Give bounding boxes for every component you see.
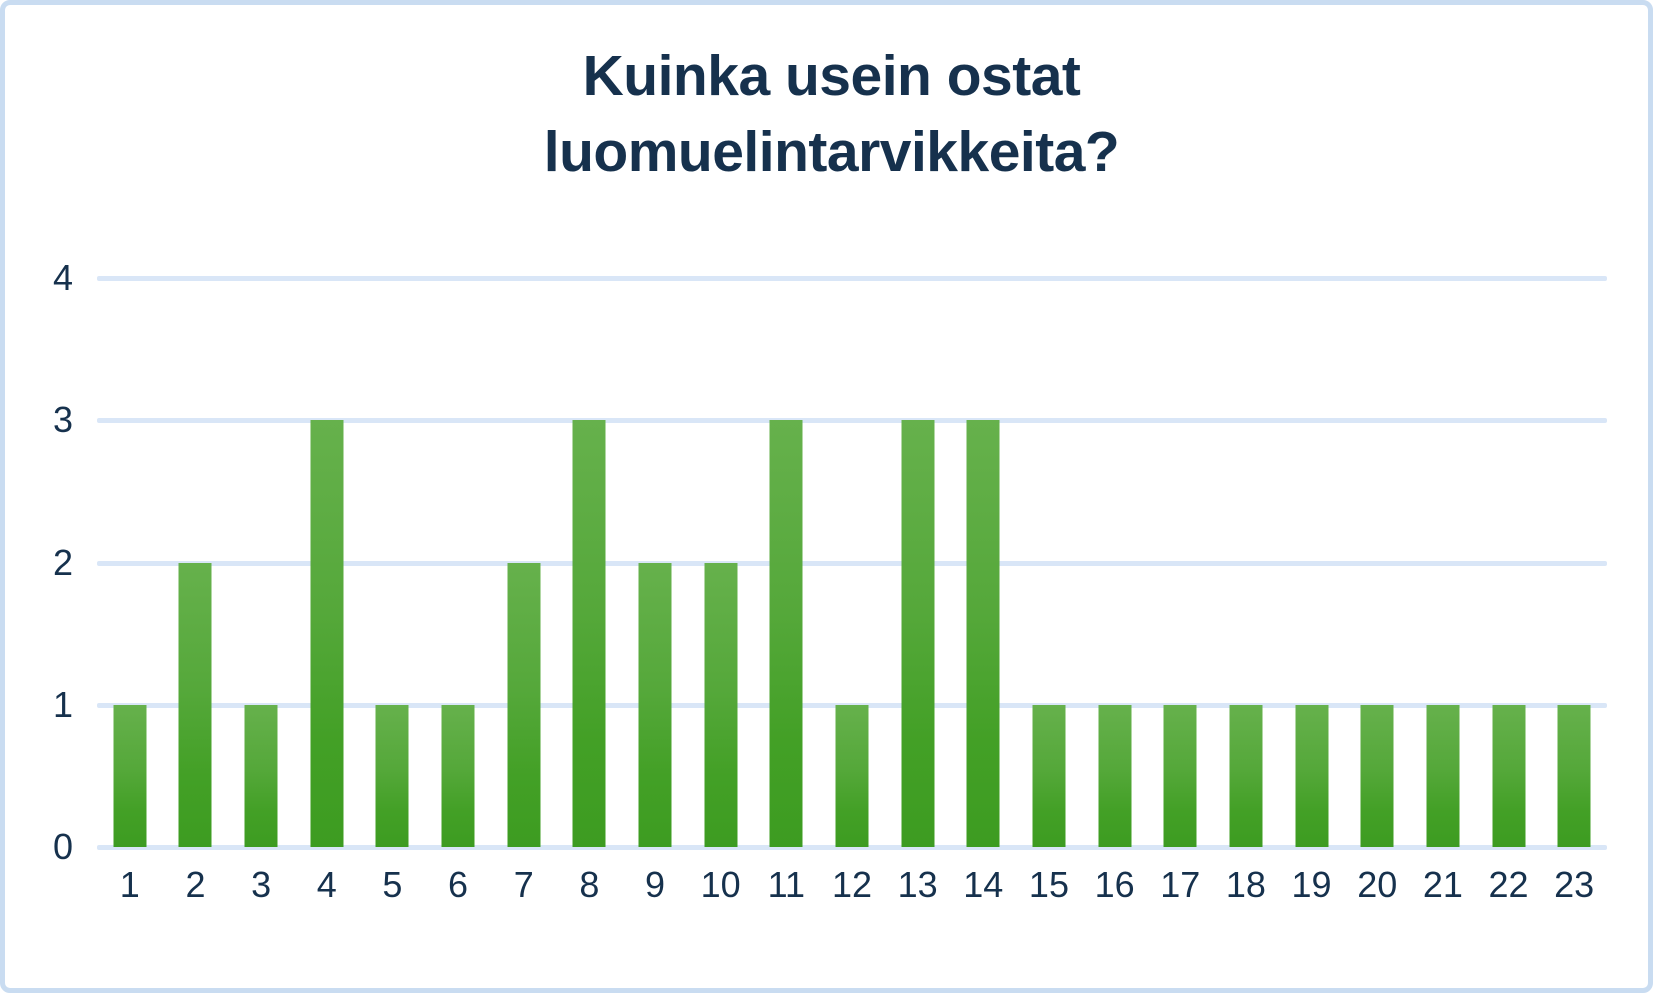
x-axis-tick-label: 7 <box>491 867 557 903</box>
bar[interactable] <box>835 705 868 847</box>
x-axis-tick-label: 16 <box>1082 867 1148 903</box>
x-axis-tick-label: 5 <box>360 867 426 903</box>
bar[interactable] <box>310 420 343 847</box>
bar[interactable] <box>704 563 737 848</box>
bar[interactable] <box>442 705 475 847</box>
bar[interactable] <box>179 563 212 848</box>
x-axis-tick-label: 21 <box>1410 867 1476 903</box>
bar[interactable] <box>376 705 409 847</box>
bar-slot <box>163 278 229 847</box>
bar-slot <box>1213 278 1279 847</box>
bar[interactable] <box>639 563 672 848</box>
x-axis-tick-label: 1 <box>97 867 163 903</box>
x-axis-tick-label: 3 <box>228 867 294 903</box>
y-axis-tick-label: 2 <box>53 545 73 581</box>
bar-slot <box>819 278 885 847</box>
bar[interactable] <box>1295 705 1328 847</box>
x-axis-tick-label: 19 <box>1279 867 1345 903</box>
bar-slot <box>97 278 163 847</box>
bar-series <box>97 278 1607 850</box>
bar-slot <box>1279 278 1345 847</box>
x-axis-tick-label: 15 <box>1016 867 1082 903</box>
bar[interactable] <box>1098 705 1131 847</box>
x-axis-tick-label: 22 <box>1476 867 1542 903</box>
bar-slot <box>754 278 820 847</box>
x-axis-tick-label: 9 <box>622 867 688 903</box>
bar[interactable] <box>113 705 146 847</box>
bar-slot <box>294 278 360 847</box>
bar-slot <box>1410 278 1476 847</box>
bar[interactable] <box>901 420 934 847</box>
chart-card: Kuinka usein ostat luomuelintarvikkeita?… <box>0 0 1653 993</box>
y-axis: 01234 <box>5 5 97 998</box>
bar[interactable] <box>1492 705 1525 847</box>
bar[interactable] <box>1426 705 1459 847</box>
bar[interactable] <box>1164 705 1197 847</box>
x-axis-tick-label: 23 <box>1541 867 1607 903</box>
bar-slot <box>622 278 688 847</box>
x-axis-tick-label: 6 <box>425 867 491 903</box>
bar-slot <box>1541 278 1607 847</box>
bar-slot <box>360 278 426 847</box>
bar[interactable] <box>1558 705 1591 847</box>
bar-slot <box>950 278 1016 847</box>
x-axis-tick-label: 14 <box>950 867 1016 903</box>
x-axis-tick-label: 17 <box>1147 867 1213 903</box>
bar-slot <box>1016 278 1082 847</box>
bar[interactable] <box>1032 705 1065 847</box>
x-axis: 1234567891011121314151617181920212223 <box>97 867 1607 937</box>
x-axis-tick-label: 2 <box>163 867 229 903</box>
bar-slot <box>885 278 951 847</box>
bar[interactable] <box>245 705 278 847</box>
bar[interactable] <box>1361 705 1394 847</box>
y-axis-tick-label: 4 <box>53 260 73 296</box>
bar[interactable] <box>573 420 606 847</box>
bar-slot <box>1082 278 1148 847</box>
bar-slot <box>557 278 623 847</box>
page-title: Kuinka usein ostat luomuelintarvikkeita? <box>5 39 1653 191</box>
bar-slot <box>425 278 491 847</box>
bar-slot <box>688 278 754 847</box>
x-axis-tick-label: 10 <box>688 867 754 903</box>
x-axis-tick-label: 13 <box>885 867 951 903</box>
y-axis-tick-label: 0 <box>53 829 73 865</box>
bar[interactable] <box>1229 705 1262 847</box>
bar-slot <box>1147 278 1213 847</box>
y-axis-tick-label: 3 <box>53 402 73 438</box>
bar[interactable] <box>507 563 540 848</box>
x-axis-tick-label: 12 <box>819 867 885 903</box>
bar[interactable] <box>770 420 803 847</box>
x-axis-tick-label: 18 <box>1213 867 1279 903</box>
bar[interactable] <box>967 420 1000 847</box>
bar-slot <box>1476 278 1542 847</box>
bar-slot <box>228 278 294 847</box>
bar-slot <box>491 278 557 847</box>
x-axis-tick-label: 8 <box>557 867 623 903</box>
x-axis-tick-label: 4 <box>294 867 360 903</box>
y-axis-tick-label: 1 <box>53 687 73 723</box>
x-axis-tick-label: 11 <box>754 867 820 903</box>
bar-slot <box>1344 278 1410 847</box>
x-axis-tick-label: 20 <box>1344 867 1410 903</box>
